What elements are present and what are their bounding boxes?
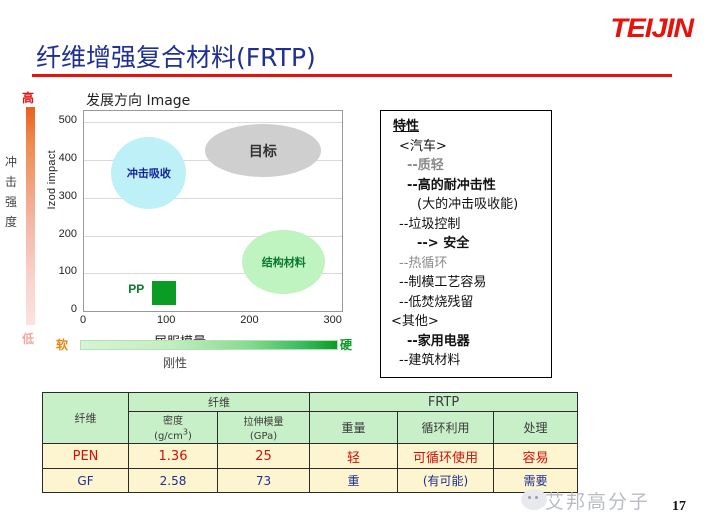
watermark-text: 艾邦高分子	[545, 487, 650, 514]
stiffness-soft-label: 软	[56, 336, 68, 353]
chart-x-tick-label: 0	[66, 314, 100, 326]
wechat-bubble-icon	[521, 489, 547, 510]
impact-axis-char-2: 击	[2, 172, 20, 192]
chart-plot-area: 冲击吸收目标结构材料PP	[83, 110, 343, 312]
cell-name: GF	[43, 469, 129, 493]
characteristics-line: --质轻	[391, 156, 551, 176]
chart-x-tick-label: 200	[232, 314, 266, 326]
cell-density: 2.58	[129, 469, 218, 493]
characteristics-heading: 特性	[393, 117, 551, 137]
table-row: PEN 1.36 25 轻 可循环使用 容易	[43, 444, 578, 469]
characteristics-line-list: <汽车>--质轻--高的耐冲击性(大的冲击吸收能)--垃圾控制--> 安全--热…	[391, 137, 551, 371]
density-unit-prefix: (g/cm	[154, 431, 183, 442]
table-header-recycle: 循环利用	[398, 412, 494, 444]
chart-y-tick-label: 100	[43, 265, 77, 277]
table-header-density: 密度 (g/cm3)	[129, 412, 218, 444]
table-header-tensile: 拉伸模量 (GPa)	[218, 412, 310, 444]
table-group-header-row: 纤维 纤维 FRTP	[43, 393, 578, 412]
table-header-tensile-line1: 拉伸模量	[244, 417, 284, 428]
cell-recycle: (有可能)	[398, 469, 494, 493]
teijin-logo: TEIJIN	[610, 13, 693, 44]
table-header-tensile-line2: (GPa)	[250, 431, 277, 442]
stiffness-hard-label: 硬	[340, 336, 352, 353]
page-number: 17	[672, 499, 686, 515]
impact-strength-gradient-bar	[26, 107, 35, 325]
chart-bubble-label: 冲击吸收	[127, 165, 171, 181]
cell-treatment: 容易	[494, 444, 578, 469]
density-unit-suffix: )	[188, 431, 192, 442]
cell-weight: 轻	[310, 444, 398, 469]
cell-recycle: 可循环使用	[398, 444, 494, 469]
characteristics-line: <汽车>	[391, 137, 551, 157]
table-group-header-frtp: FRTP	[310, 393, 578, 412]
impact-axis-char-4: 度	[2, 212, 20, 232]
cell-weight: 重	[310, 469, 398, 493]
table-group-header-fiber: 纤维	[129, 393, 310, 412]
wechat-dot-1	[528, 496, 531, 499]
table-header-density-unit: (g/cm3)	[154, 431, 192, 442]
table-corner-header: 纤维	[43, 393, 129, 444]
table-row: GF 2.58 73 重 (有可能) 需要	[43, 469, 578, 493]
table-header-weight: 重量	[310, 412, 398, 444]
wechat-dot-2	[535, 496, 538, 499]
chart-y-tick-label: 200	[43, 228, 77, 240]
cell-tensile: 73	[218, 469, 310, 493]
characteristics-line: --热循环	[391, 254, 551, 274]
stiffness-gradient-bar	[80, 340, 338, 350]
chart-y-tick-label: 400	[43, 152, 77, 164]
chart-y-tick-label: 300	[43, 190, 77, 202]
characteristics-box: 特性 <汽车>--质轻--高的耐冲击性(大的冲击吸收能)--垃圾控制--> 安全…	[380, 110, 552, 378]
table-header-treatment: 处理	[494, 412, 578, 444]
chart-x-tick-label: 300	[316, 314, 350, 326]
stiffness-axis-label: 刚性	[163, 354, 187, 371]
impact-strength-axis-label: 冲 击 强 度	[2, 152, 20, 232]
chart-marker-pp-label: PP	[128, 282, 144, 296]
fiber-comparison-table: 纤维 纤维 FRTP 密度 (g/cm3) 拉伸模量 (GPa) 重量 循环利用…	[42, 392, 578, 493]
cell-density: 1.36	[129, 444, 218, 469]
characteristics-line: --> 安全	[391, 234, 551, 254]
chart-bubble-label: 目标	[249, 141, 277, 161]
characteristics-line: --低焚烧残留	[391, 293, 551, 313]
characteristics-line: (大的冲击吸收能)	[391, 195, 551, 215]
characteristics-line: <其他>	[391, 312, 551, 332]
impact-low-label: 低	[22, 330, 34, 347]
title-underline-rule	[32, 74, 672, 77]
impact-axis-char-1: 冲	[2, 152, 20, 172]
cell-tensile: 25	[218, 444, 310, 469]
impact-axis-char-3: 强	[2, 192, 20, 212]
cell-name: PEN	[43, 444, 129, 469]
characteristics-line: --垃圾控制	[391, 215, 551, 235]
characteristics-line: --制模工艺容易	[391, 273, 551, 293]
chart-bubble: 结构材料	[242, 230, 325, 294]
chart-x-tick-label: 100	[149, 314, 183, 326]
table-header-density-line1: 密度	[163, 416, 183, 427]
chart-bubble-label: 结构材料	[262, 254, 306, 270]
characteristics-line: --高的耐冲击性	[391, 176, 551, 196]
chart-marker-pp	[152, 281, 175, 306]
impact-high-label: 高	[22, 89, 34, 106]
chart-gridline	[84, 122, 342, 123]
characteristics-line: --建筑材料	[391, 351, 551, 371]
chart-y-tick-label: 500	[43, 114, 77, 126]
chart-bubble: 冲击吸收	[111, 137, 186, 209]
characteristics-line: --家用电器	[391, 332, 551, 352]
page-title: 纤维增强复合材料(FRTP)	[36, 38, 316, 74]
chart-bubble: 目标	[205, 124, 322, 177]
chart-caption: 发展方向 Image	[86, 90, 190, 110]
